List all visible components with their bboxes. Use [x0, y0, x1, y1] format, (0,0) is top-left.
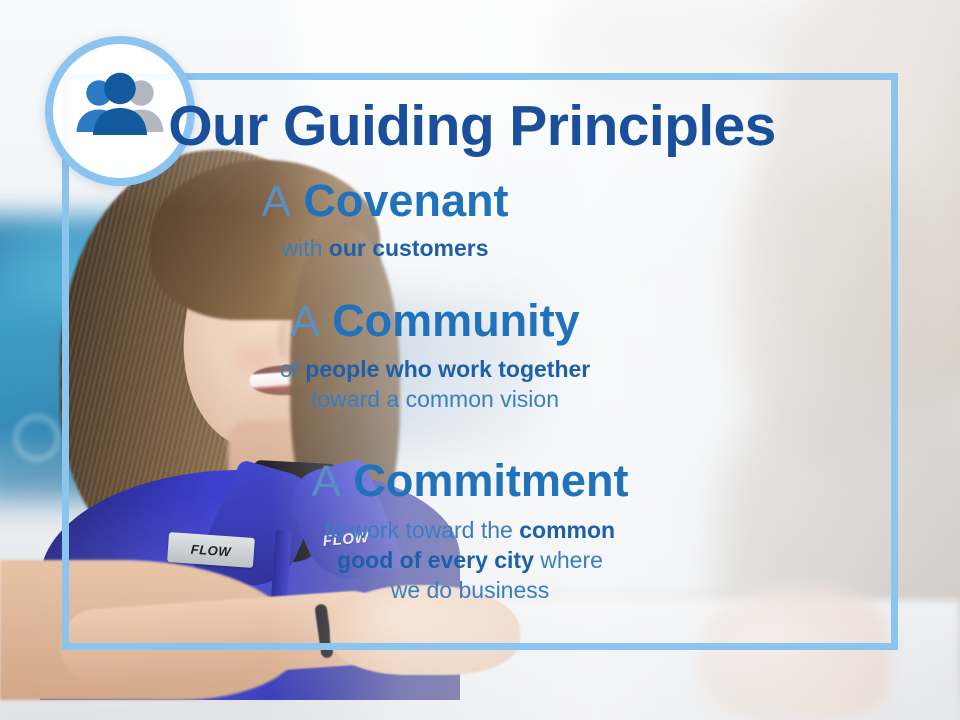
people-group-icon — [72, 72, 168, 150]
blurred-customer-hands — [700, 585, 890, 720]
promo-graphic: FLOW FLOW — [0, 0, 960, 720]
people-group-badge — [45, 36, 195, 186]
name-badge-text: FLOW — [190, 541, 231, 559]
employee-name-badge: FLOW — [167, 532, 255, 568]
shirt-logo-text: FLOW — [322, 529, 370, 550]
employee-clasped-hands — [330, 585, 520, 675]
blurred-vehicle-emblem — [14, 415, 60, 461]
